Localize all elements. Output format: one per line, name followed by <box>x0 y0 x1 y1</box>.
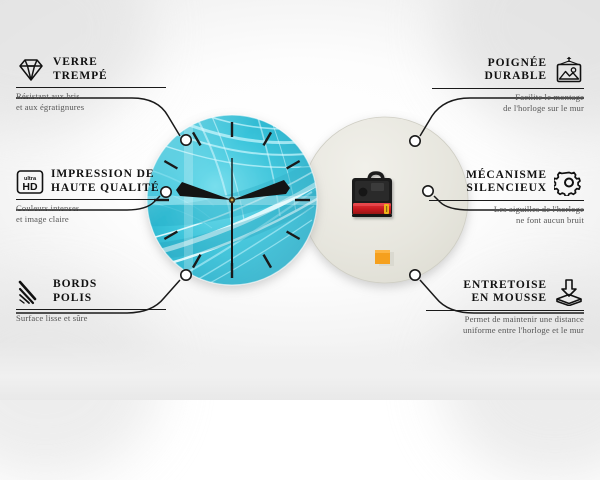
feature-subtitle-line2: uniforme entre l'horloge et le mur <box>426 325 584 336</box>
feature-rule <box>426 310 584 311</box>
diamond-icon <box>16 57 46 83</box>
feature-verre-trempe: VERRE TREMPÉ Résistant aux bris et aux é… <box>16 56 166 112</box>
feature-bords-polis: BORDS POLIS Surface lisse et sûre <box>16 278 166 324</box>
feature-subtitle-line1: Résistant aux bris <box>16 91 166 102</box>
feature-subtitle-line1: Facilite le montage <box>432 92 584 103</box>
feature-subtitle-line2: et aux égratignures <box>16 102 166 113</box>
feature-rule <box>432 88 584 89</box>
picture-hanger-icon <box>554 56 584 84</box>
polished-edges-icon <box>16 279 46 305</box>
ultra-hd-badge-icon: ultra HD <box>16 169 44 195</box>
feature-title-line1: VERRE <box>53 56 108 70</box>
feature-title-line1: IMPRESSION DE <box>51 168 160 182</box>
feature-rule <box>16 309 166 310</box>
feature-title-line2: SILENCIEUX <box>466 182 547 196</box>
feature-subtitle-line2: de l'horloge sur le mur <box>432 103 584 114</box>
feature-title-line2: EN MOUSSE <box>463 292 547 306</box>
product-infographic: VERRE TREMPÉ Résistant aux bris et aux é… <box>0 0 600 400</box>
feature-entretoise-en-mousse: ENTRETOISE EN MOUSSE Permet de maintenir… <box>426 278 584 335</box>
feature-rule <box>16 87 166 88</box>
feature-title-line2: POLIS <box>53 292 97 306</box>
feature-subtitle-line1: Permet de maintenir une distance <box>426 314 584 325</box>
feature-title-line1: MÉCANISME <box>466 169 547 183</box>
feature-rule <box>16 199 168 200</box>
feature-mecanisme-silencieux: MÉCANISME SILENCIEUX Les aiguilles de l'… <box>429 168 584 225</box>
feature-title-line2: TREMPÉ <box>53 70 108 84</box>
feature-title-line2: HAUTE QUALITÉ <box>51 182 160 196</box>
feature-title-line1: POIGNÉE <box>484 57 547 71</box>
ultra-hd-main-text: HD <box>22 181 38 193</box>
feature-impression-haute-qualite: ultra HD IMPRESSION DE HAUTE QUALITÉ Cou… <box>16 168 168 224</box>
feature-title-line1: ENTRETOISE <box>463 279 547 293</box>
feature-subtitle-line1: Les aiguilles de l'horloge <box>429 204 584 215</box>
feature-rule <box>429 200 584 201</box>
gear-icon <box>554 168 584 196</box>
feature-subtitle-line2: et image claire <box>16 214 168 225</box>
feature-title-line2: DURABLE <box>484 70 547 84</box>
feature-subtitle-line1: Couleurs intenses <box>16 203 168 214</box>
feature-subtitle-line1: Surface lisse et sûre <box>16 313 166 324</box>
feature-poignee-durable: POIGNÉE DURABLE Facilite le montage de l… <box>432 56 584 113</box>
foam-spacer-icon <box>554 278 584 306</box>
feature-title-line1: BORDS <box>53 278 97 292</box>
feature-subtitle-line2: ne font aucun bruit <box>429 215 584 226</box>
